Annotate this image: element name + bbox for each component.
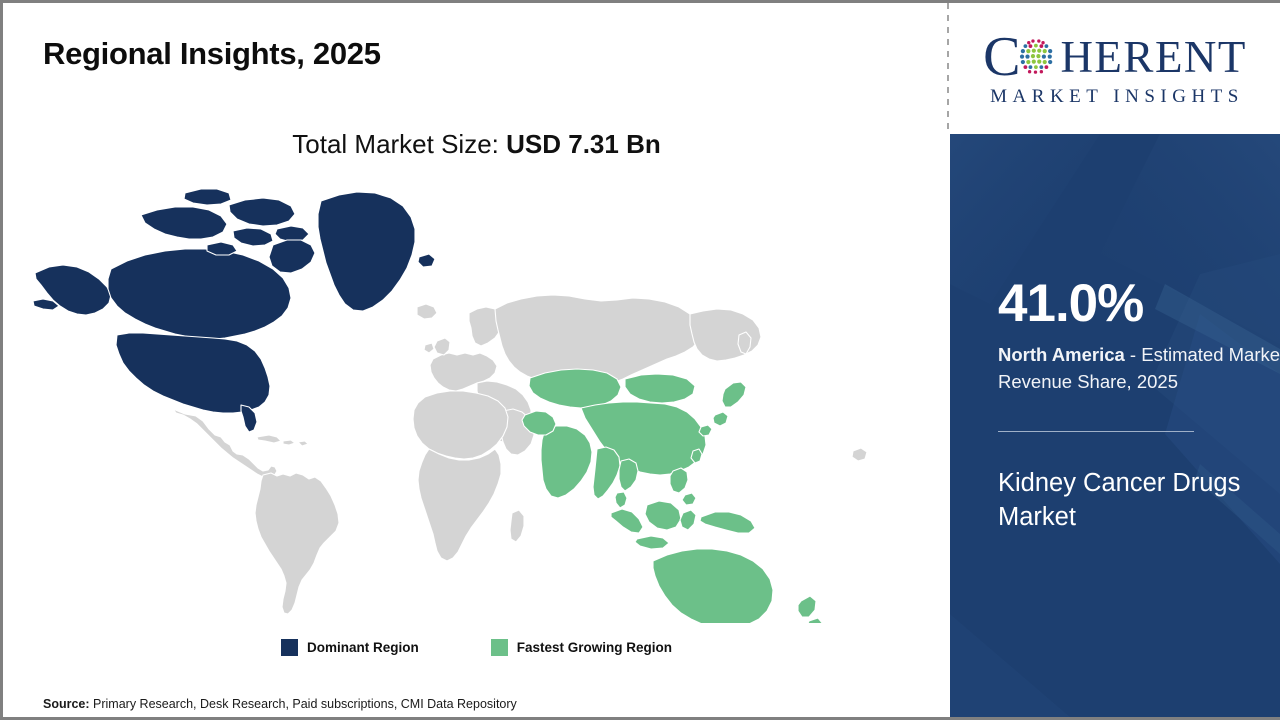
infographic-page: Regional Insights, 2025 Total Market Siz… — [0, 0, 1280, 720]
source-label: Source: — [43, 697, 90, 711]
logo-letter-c: C — [983, 30, 1020, 84]
market-name: Kidney Cancer Drugs Market — [998, 467, 1268, 535]
source-note: Source: Primary Research, Desk Research,… — [43, 697, 517, 711]
stat-percentage: 41.0% — [998, 277, 1280, 330]
legend-label-dominant: Dominant Region — [307, 640, 419, 655]
world-map — [25, 183, 925, 623]
dotted-globe-icon — [1017, 36, 1059, 78]
map-neutral-regions — [173, 295, 867, 614]
page-title: Regional Insights, 2025 — [43, 36, 381, 72]
total-market-size-label: Total Market Size: — [292, 129, 506, 159]
legend-item-dominant: Dominant Region — [281, 639, 419, 656]
stat-panel: 41.0% North America - Estimated Market R… — [950, 134, 1280, 717]
stat-divider-rule — [998, 431, 1194, 432]
logo-wordmark-row: C — [983, 30, 1247, 84]
stat-region-name: North America — [998, 344, 1125, 365]
right-sidebar-panel: C — [950, 3, 1280, 717]
source-text: Primary Research, Desk Research, Paid su… — [90, 697, 517, 711]
brand-logo: C — [950, 3, 1280, 134]
legend-swatch-fastest-growing — [491, 639, 508, 656]
map-legend: Dominant Region Fastest Growing Region — [3, 639, 950, 656]
panel-divider — [947, 3, 949, 134]
panel-background-texture — [950, 134, 1280, 717]
total-market-size-value: USD 7.31 Bn — [506, 129, 661, 159]
legend-swatch-dominant — [281, 639, 298, 656]
logo-wordmark: HERENT — [1060, 30, 1246, 84]
map-dominant-regions — [33, 189, 435, 432]
total-market-size: Total Market Size: USD 7.31 Bn — [3, 129, 950, 160]
world-map-svg — [25, 183, 925, 623]
stat-block: 41.0% North America - Estimated Market R… — [998, 277, 1280, 396]
stat-description: North America - Estimated Market Revenue… — [998, 342, 1280, 396]
legend-item-fastest-growing: Fastest Growing Region — [491, 639, 672, 656]
legend-label-fastest-growing: Fastest Growing Region — [517, 640, 672, 655]
map-fastest-growing-regions — [522, 369, 823, 623]
left-content-panel: Regional Insights, 2025 Total Market Siz… — [3, 3, 950, 717]
logo-subtitle: MARKET INSIGHTS — [986, 86, 1244, 108]
